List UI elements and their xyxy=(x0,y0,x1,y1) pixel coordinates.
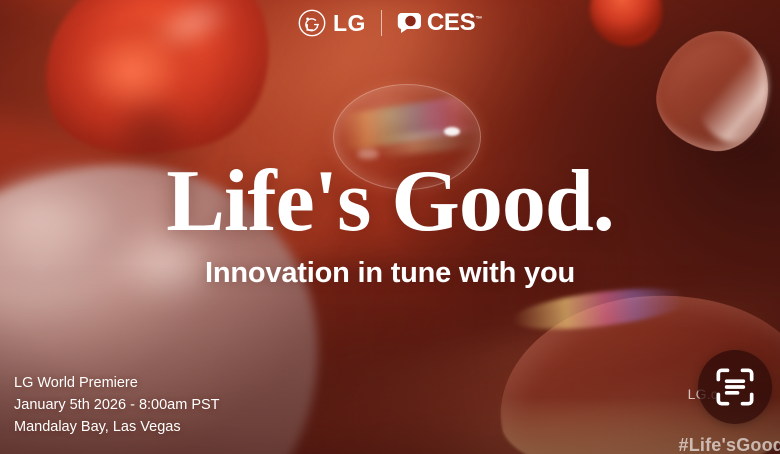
event-title-line: LG World Premiere xyxy=(14,372,220,394)
ces-speech-bubble-icon xyxy=(397,12,422,34)
ces-wordmark: CES™ xyxy=(427,11,482,35)
ces-trademark-symbol: ™ xyxy=(475,16,482,23)
logo-divider xyxy=(381,10,382,36)
hero-headline: Life's Good. xyxy=(0,160,780,244)
scan-text-icon xyxy=(715,367,755,407)
lg-wordmark: LG xyxy=(333,12,366,35)
event-details-block: LG World Premiere January 5th 2026 - 8:0… xyxy=(14,372,220,438)
hero-subheadline: Innovation in tune with you xyxy=(0,257,780,290)
hero-copy-block: Life's Good. Innovation in tune with you xyxy=(0,160,780,290)
lg-logo-lockup[interactable]: LG xyxy=(298,9,366,37)
ces-logo-lockup[interactable]: CES™ xyxy=(397,11,482,35)
campaign-hashtag: #Life'sGood xyxy=(679,435,780,454)
event-venue-line: Mandalay Bay, Las Vegas xyxy=(14,416,220,438)
logo-lockup-row: LG CES™ xyxy=(0,9,780,37)
ces-wordmark-text: CES xyxy=(427,9,475,36)
lg-face-logo-icon xyxy=(298,9,326,37)
lg-ces-keyvisual-banner: LG CES™ Life's Good. Innovation in tune … xyxy=(0,0,780,454)
scan-text-button[interactable] xyxy=(698,350,772,424)
event-datetime-line: January 5th 2026 - 8:00am PST xyxy=(14,394,220,416)
